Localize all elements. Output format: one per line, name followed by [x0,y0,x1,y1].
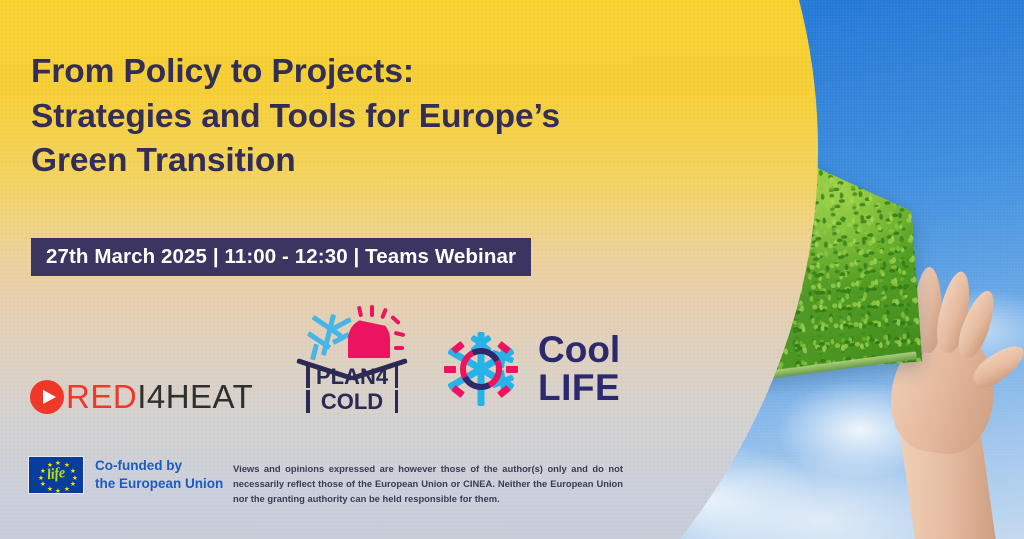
eu-funding-label: Co-funded by the European Union [95,457,223,493]
logo-plan4cold-text: PLAN4 COLD [306,364,398,414]
logo-red-i4heat[interactable]: RED I4HEAT [30,378,253,416]
bar-left-2 [306,390,310,413]
banner-canvas: From Policy to Projects: Strategies and … [0,0,1024,539]
flake-accent-4 [506,366,518,373]
partner-logos-row: RED I4HEAT PLAN4 [0,300,640,425]
sun-ray-5 [394,331,406,338]
flake-accent-3 [444,366,456,373]
logo-red-i4heat-red: RED [66,378,137,416]
snowflake-icon [440,328,522,410]
plan4cold-line2-text: COLD [321,391,383,413]
logo-plan4cold-line-2: COLD [306,389,398,414]
bar-right-2 [395,390,399,413]
bar-right-1 [395,365,399,388]
event-details-text: 27th March 2025 | 11:00 - 12:30 | Teams … [46,245,516,269]
sun-ray-3 [380,308,388,320]
plan4cold-line1-text: PLAN4 [316,366,388,388]
eu-funding-line-1: Co-funded by [95,457,223,475]
logo-plan4cold[interactable]: PLAN4 COLD [298,306,406,416]
eu-funding-block: ★ ★ ★ ★ ★ ★ ★ ★ ★ ★ ★ ★ life Co-funded b… [28,456,223,494]
eu-disclaimer-text: Views and opinions expressed are however… [233,461,623,507]
event-details-badge: 27th March 2025 | 11:00 - 12:30 | Teams … [31,238,531,276]
logo-red-i4heat-heat: I4HEAT [137,378,253,416]
sun-ray-2 [370,305,374,317]
page-title: From Policy to Projects: Strategies and … [31,50,721,184]
coollife-line1-text: Cool [538,331,620,369]
coollife-line2-text: LIFE [538,369,620,407]
logo-coollife[interactable]: Cool LIFE [440,328,620,410]
logo-plan4cold-line-1: PLAN4 [306,364,398,389]
eu-flag-life-icon: ★ ★ ★ ★ ★ ★ ★ ★ ★ ★ ★ ★ life [28,456,84,494]
logo-coollife-text: Cool LIFE [538,331,620,408]
sun-ray-1 [357,306,363,318]
headline-line-1: From Policy to Projects: [31,50,721,95]
play-circle-icon [30,380,64,414]
sun-ray-4 [390,315,401,325]
headline-line-3: Green Transition [31,139,721,184]
life-wordmark: life [46,465,66,484]
flake-accent-5 [451,385,465,398]
flake-accent-6 [497,385,511,398]
headline-line-2: Strategies and Tools for Europe’s [31,95,721,140]
eu-funding-line-2: the European Union [95,475,223,493]
bar-left-1 [306,365,310,388]
